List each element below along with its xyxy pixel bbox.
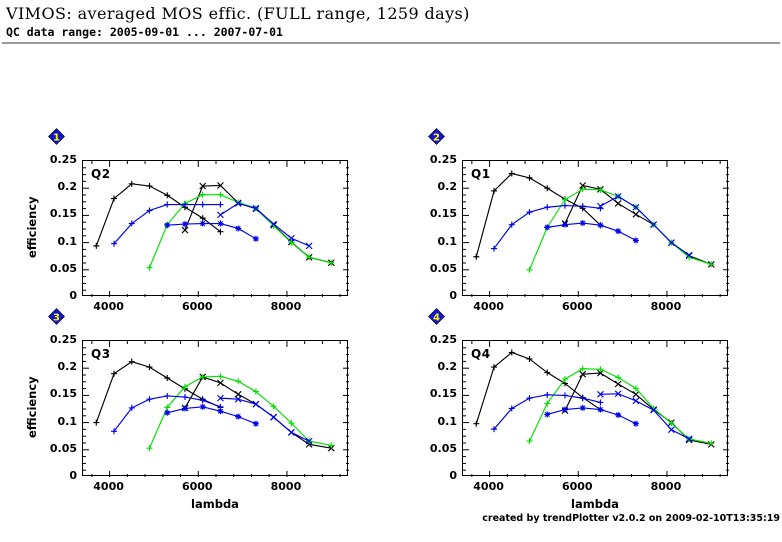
x-axis-title: lambda	[462, 497, 728, 511]
panel-badge-1[interactable]: 1	[48, 128, 65, 145]
panel-badge-number: 2	[433, 132, 440, 143]
panel-badge-number: 1	[53, 132, 60, 143]
quadrant-label-q3: Q3	[91, 347, 111, 361]
y-axis-title: efficiency	[25, 376, 39, 438]
series-line-2	[530, 369, 712, 444]
y-axis-title: efficiency	[25, 196, 39, 258]
y-tick-label: 0.1	[41, 235, 77, 248]
series-line-5	[600, 394, 689, 439]
plot-area-q4	[462, 340, 728, 476]
quadrant-label-q4: Q4	[471, 347, 491, 361]
series-markers-0	[473, 349, 603, 426]
series-line-0	[476, 352, 600, 423]
series-line-5	[220, 398, 309, 441]
y-tick-label: 0.2	[421, 180, 457, 193]
panel-badge-number: 4	[433, 312, 440, 323]
series-line-5	[220, 203, 309, 245]
y-tick-label: 0.05	[41, 442, 77, 455]
y-tick-label: 0.1	[421, 415, 457, 428]
y-tick-label: 0.1	[421, 235, 457, 248]
series-line-2	[150, 376, 332, 448]
panel-badge-2[interactable]: 2	[428, 128, 445, 145]
series-line-1	[185, 377, 331, 448]
series-line-0	[96, 362, 220, 423]
x-tick-label: 4000	[459, 480, 519, 493]
series-line-4	[547, 408, 636, 424]
y-tick-label: 0	[41, 469, 77, 482]
panel-badge-4[interactable]: 4	[428, 308, 445, 325]
x-tick-label: 4000	[459, 300, 519, 313]
y-tick-label: 0.15	[41, 387, 77, 400]
y-tick-label: 0.2	[41, 180, 77, 193]
plot-area-q2	[82, 160, 348, 296]
x-tick-label: 8000	[256, 300, 316, 313]
x-tick-label: 8000	[256, 480, 316, 493]
x-tick-label: 6000	[547, 480, 607, 493]
x-tick-label: 8000	[636, 300, 696, 313]
y-tick-label: 0	[421, 469, 457, 482]
y-tick-label: 0.15	[421, 387, 457, 400]
y-tick-label: 0	[421, 289, 457, 302]
panel-badge-3[interactable]: 3	[48, 308, 65, 325]
y-tick-label: 0.25	[41, 153, 77, 166]
series-line-4	[547, 223, 636, 240]
plot-area-q3	[82, 340, 348, 476]
series-line-4	[167, 224, 256, 239]
x-tick-label: 6000	[167, 300, 227, 313]
series-markers-1	[562, 370, 714, 447]
quadrant-label-q1: Q1	[471, 167, 491, 181]
y-tick-label: 0.05	[421, 262, 457, 275]
y-tick-label: 0.05	[421, 442, 457, 455]
series-line-1	[565, 185, 711, 264]
y-tick-label: 0.1	[41, 415, 77, 428]
x-tick-label: 4000	[79, 300, 139, 313]
series-line-4	[167, 407, 256, 424]
y-tick-label: 0.15	[421, 207, 457, 220]
y-tick-label: 0.05	[41, 262, 77, 275]
series-markers-0	[93, 359, 223, 426]
x-tick-label: 4000	[79, 480, 139, 493]
y-tick-label: 0	[41, 289, 77, 302]
x-axis-title: lambda	[82, 497, 348, 511]
y-tick-label: 0.15	[41, 207, 77, 220]
y-tick-label: 0.2	[421, 360, 457, 373]
y-tick-label: 0.25	[41, 333, 77, 346]
series-line-0	[96, 184, 220, 246]
y-tick-label: 0.25	[421, 333, 457, 346]
series-markers-4	[164, 404, 259, 427]
y-tick-label: 0.25	[421, 153, 457, 166]
y-tick-label: 0.2	[41, 360, 77, 373]
header-divider	[2, 42, 780, 44]
series-line-5	[600, 196, 689, 255]
page-subtitle: QC data range: 2005-09-01 ... 2007-07-01	[6, 25, 283, 39]
footer-credit: created by trendPlotter v2.0.2 on 2009-0…	[440, 513, 780, 524]
x-tick-label: 6000	[547, 300, 607, 313]
plot-area-q1	[462, 160, 728, 296]
panel-badge-number: 3	[53, 312, 60, 323]
x-tick-label: 8000	[636, 480, 696, 493]
page-title: VIMOS: averaged MOS effic. (FULL range, …	[6, 4, 470, 23]
quadrant-label-q2: Q2	[91, 167, 111, 181]
x-tick-label: 6000	[167, 480, 227, 493]
series-markers-2	[527, 366, 715, 447]
